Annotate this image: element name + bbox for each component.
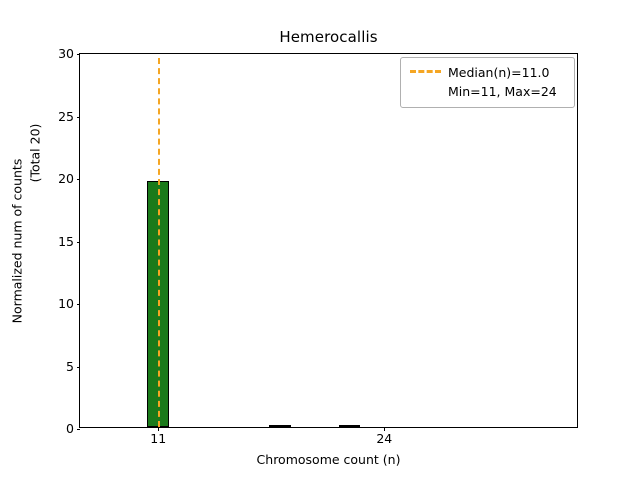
y-tick-mark bbox=[77, 367, 81, 368]
y-tick-label: 15 bbox=[58, 235, 74, 248]
y-tick-label: 20 bbox=[58, 173, 74, 186]
legend-entry-minmax: Min=11, Max=24 bbox=[448, 82, 557, 101]
y-tick-mark bbox=[77, 242, 81, 243]
y-tick-mark bbox=[77, 54, 81, 55]
figure-canvas: Hemerocallis Normalized num of counts (T… bbox=[0, 0, 640, 480]
legend-entry-median: Median(n)=11.0 bbox=[448, 63, 557, 82]
legend: Median(n)=11.0 Min=11, Max=24 bbox=[400, 57, 575, 108]
median-line bbox=[158, 58, 160, 427]
y-axis-label-total: (Total 20) bbox=[28, 123, 43, 182]
y-axis-label-group: Normalized num of counts (Total 20) bbox=[0, 53, 46, 428]
legend-text: Median(n)=11.0 Min=11, Max=24 bbox=[448, 63, 557, 102]
y-tick-label: 10 bbox=[58, 298, 74, 311]
y-axis-label: Normalized num of counts bbox=[10, 158, 25, 323]
median-line-swatch-icon bbox=[410, 70, 441, 73]
chart-title: Hemerocallis bbox=[79, 28, 578, 46]
bar-n22 bbox=[339, 425, 361, 427]
y-tick-mark bbox=[77, 429, 81, 430]
x-axis-label: Chromosome count (n) bbox=[79, 452, 578, 467]
y-tick-label: 30 bbox=[58, 48, 74, 61]
bar-n18 bbox=[269, 425, 291, 427]
y-tick-label: 25 bbox=[58, 110, 74, 123]
y-tick-mark bbox=[77, 179, 81, 180]
y-tick-mark bbox=[77, 304, 81, 305]
y-tick-label: 0 bbox=[66, 423, 74, 436]
y-tick-mark bbox=[77, 117, 81, 118]
x-tick-label: 24 bbox=[376, 433, 392, 446]
y-tick-label: 5 bbox=[66, 360, 74, 373]
x-tick-label: 11 bbox=[150, 433, 166, 446]
x-tick-mark bbox=[158, 427, 159, 431]
plot-inner: 0 5 10 15 20 25 bbox=[80, 54, 577, 427]
x-tick-mark bbox=[384, 427, 385, 431]
plot-area: 0 5 10 15 20 25 bbox=[79, 53, 578, 428]
